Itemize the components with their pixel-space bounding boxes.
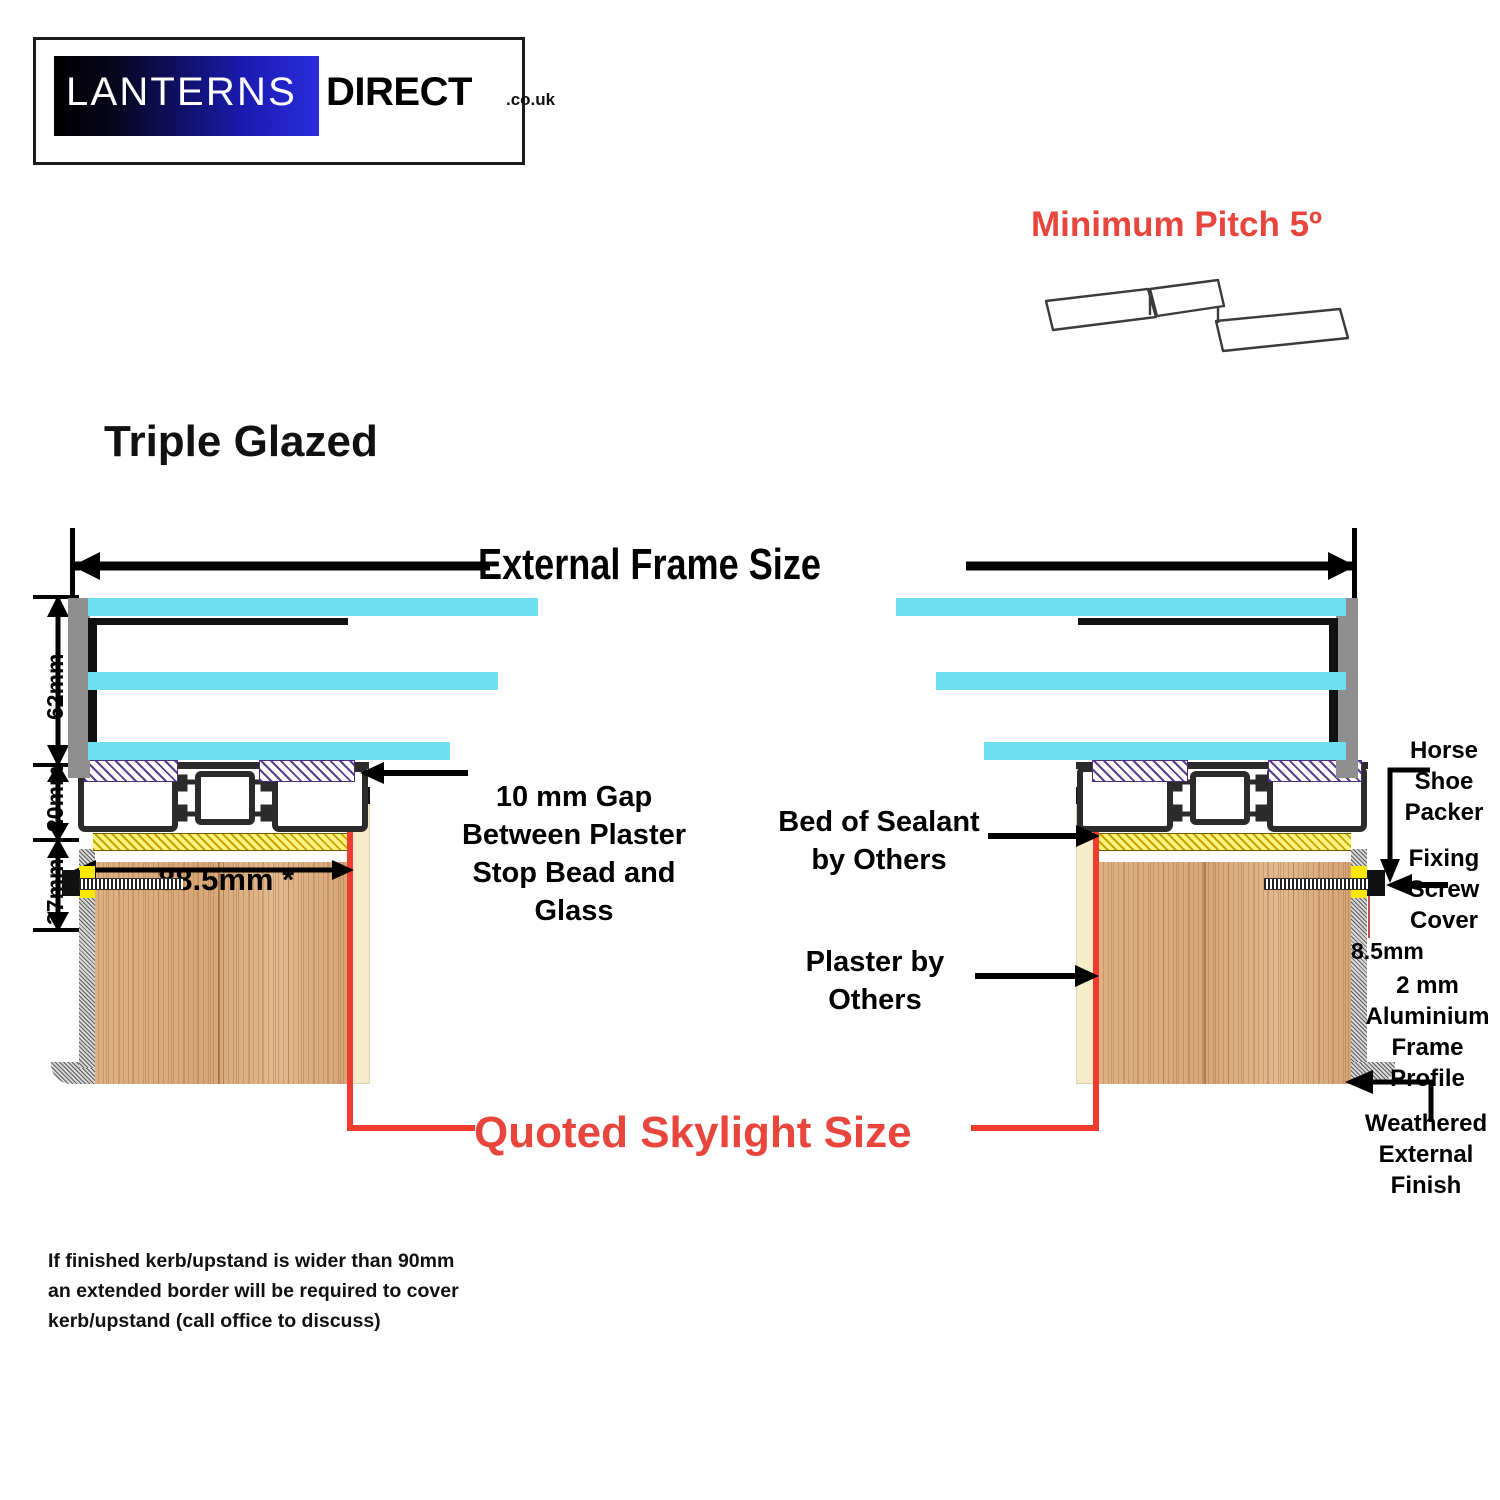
callout-profile-line-1: 2 mm xyxy=(1355,970,1500,1001)
left-weathered-finish-corner xyxy=(79,1046,95,1068)
callout-sealant-line-1: Bed of Sealant xyxy=(770,803,988,841)
quoted-skylight-size-label: Quoted Skylight Size xyxy=(474,1108,912,1158)
callout-profile-line-2: Aluminium xyxy=(1355,1001,1500,1032)
dim-arrow-right xyxy=(966,548,1358,584)
right-glass-pane-1 xyxy=(896,598,1346,616)
right-fixing-screw xyxy=(1264,878,1368,890)
left-quoted-size-leader xyxy=(347,1125,475,1131)
callout-weathered-line-3: Finish xyxy=(1352,1170,1500,1201)
dim-label-8-5mm: 8.5mm xyxy=(1351,938,1424,965)
kerb-upstand-footnote: If finished kerb/upstand is wider than 9… xyxy=(48,1246,518,1336)
callout-sealant-label: Bed of Sealant by Others xyxy=(770,803,988,879)
left-glass-pane-3 xyxy=(88,742,450,760)
callout-plaster-line-1: Plaster by xyxy=(762,943,988,981)
left-glazing-tape-outer xyxy=(259,760,355,782)
left-frame-edge-grey xyxy=(68,598,90,778)
callout-fsc-line-1: Fixing xyxy=(1388,843,1500,874)
right-glass-pane-2 xyxy=(936,672,1346,690)
callout-weathered-line-2: External xyxy=(1352,1139,1500,1170)
right-glazing-tape-inner xyxy=(1092,760,1188,782)
glazing-type-title: Triple Glazed xyxy=(104,417,378,467)
left-glass-pane-1 xyxy=(88,598,538,616)
left-spacer-bar-1 xyxy=(88,618,348,625)
footnote-line-2: an extended border will be required to c… xyxy=(48,1276,518,1306)
minimum-pitch-diagram xyxy=(1040,275,1360,385)
brand-logo: LANTERNS DIRECT .co.uk xyxy=(33,37,525,165)
footnote-line-3: kerb/upstand (call office to discuss) xyxy=(48,1306,518,1336)
right-spacer-bar-1 xyxy=(1078,618,1338,625)
logo-secondary-text: DIRECT xyxy=(326,70,472,115)
callout-gap-line-4: Glass xyxy=(448,892,700,930)
callout-fixing-screw-cover-arrow xyxy=(1386,872,1448,898)
left-glazing-tape-inner xyxy=(84,760,178,782)
logo-tld-text: .co.uk xyxy=(506,90,555,110)
callout-weathered-finish-label: Weathered External Finish xyxy=(1352,1108,1500,1201)
callout-plaster-arrow xyxy=(975,963,1099,989)
dim-arrow-left xyxy=(70,548,490,584)
callout-weathered-line-1: Weathered xyxy=(1352,1108,1500,1139)
callout-hsp-line-1: Horse xyxy=(1388,735,1500,766)
callout-gap-line-1: 10 mm Gap xyxy=(448,778,700,816)
callout-sealant-arrow xyxy=(988,823,1100,849)
callout-gap-line-2: Between Plaster xyxy=(448,816,700,854)
dim-label-62mm: 62mm xyxy=(42,654,69,720)
right-timber-joint xyxy=(1204,862,1206,1084)
right-timber-upstand xyxy=(1098,862,1351,1084)
left-fixing-screw-cover xyxy=(62,870,80,896)
external-frame-size-label: External Frame Size xyxy=(478,540,821,590)
callout-sealant-line-2: by Others xyxy=(770,841,988,879)
right-glass-pane-3 xyxy=(984,742,1346,760)
footnote-line-1: If finished kerb/upstand is wider than 9… xyxy=(48,1246,518,1276)
logo-primary-text: LANTERNS xyxy=(66,70,297,115)
callout-plaster-label: Plaster by Others xyxy=(762,943,988,1019)
left-glass-pane-2 xyxy=(88,672,498,690)
callout-plaster-line-2: Others xyxy=(762,981,988,1019)
callout-fsc-line-3: Cover xyxy=(1388,905,1500,936)
right-quoted-size-leader xyxy=(971,1125,1099,1131)
callout-gap-line-3: Stop Bead and xyxy=(448,854,700,892)
left-fixing-screw xyxy=(79,878,183,890)
dim-label-20mm: 20mm xyxy=(42,766,69,832)
minimum-pitch-title: Minimum Pitch 5º xyxy=(1031,205,1322,245)
callout-gap-label: 10 mm Gap Between Plaster Stop Bead and … xyxy=(448,778,700,930)
right-profile-offset-tick xyxy=(1368,896,1370,938)
